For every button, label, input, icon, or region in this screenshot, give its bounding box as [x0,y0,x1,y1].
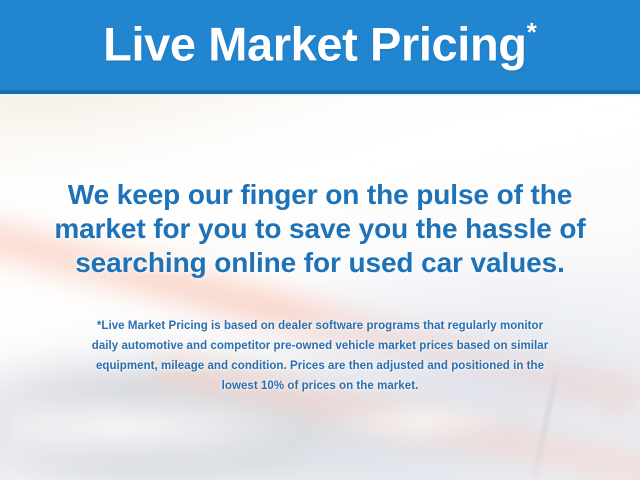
footnote-line-3: equipment, mileage and condition. Prices… [0,356,640,376]
footnote-block: *Live Market Pricing is based on dealer … [0,316,640,396]
banner-title-asterisk: * [527,17,537,47]
headline-block: We keep our finger on the pulse of the m… [0,178,640,280]
banner-title-text: Live Market Pricing [103,18,526,71]
footnote-line-1: *Live Market Pricing is based on dealer … [0,316,640,336]
headline-line-1: We keep our finger on the pulse of the [0,178,640,212]
banner-title: Live Market Pricing* [103,19,537,70]
headline-line-2: market for you to save you the hassle of [0,212,640,246]
banner-bottom-gloss [0,94,640,96]
footnote-line-2: daily automotive and competitor pre-owne… [0,336,640,356]
headline-line-3: searching online for used car values. [0,246,640,280]
live-market-pricing-slide: Live Market Pricing* We keep our finger … [0,0,640,480]
footnote-line-4: lowest 10% of prices on the market. [0,376,640,396]
header-banner: Live Market Pricing* [0,0,640,90]
